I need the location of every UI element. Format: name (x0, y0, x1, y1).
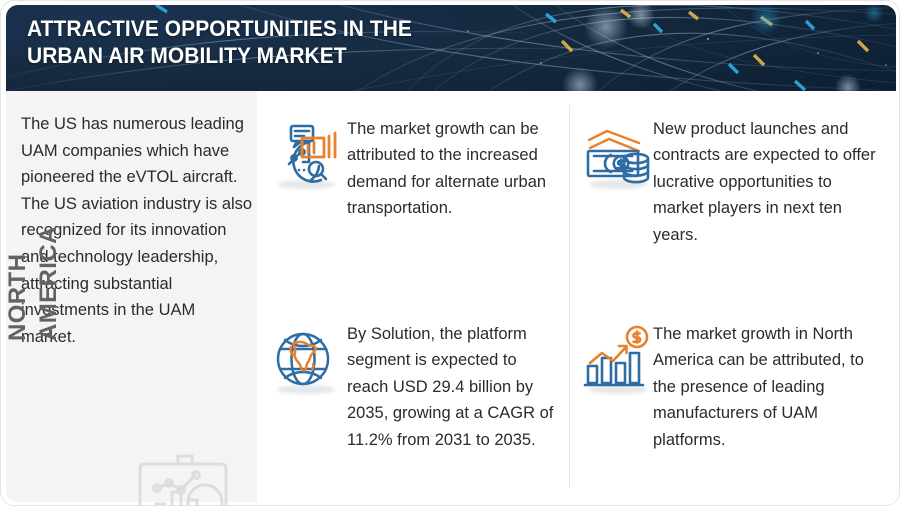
money-banknote-coins-icon (581, 118, 655, 192)
globe-world-icon (269, 323, 343, 397)
highlight-text-3: By Solution, the platform segment is exp… (347, 321, 559, 453)
page-title: Attractive Opportunities in the Urban Ai… (27, 15, 604, 69)
region-name-label: NORTH AMERICA (2, 151, 64, 341)
presentation-board-chart-magnifier-icon (126, 444, 246, 506)
header-banner: Attractive Opportunities in the Urban Ai… (6, 5, 896, 91)
column-divider (569, 105, 570, 488)
bar-chart-growth-dollar-icon (581, 323, 655, 397)
infographic-card: Attractive Opportunities in the Urban Ai… (0, 0, 900, 506)
pie-chart-percent-analysis-icon (269, 118, 343, 192)
highlight-text-1: The market growth can be attributed to t… (347, 116, 559, 222)
left-region-panel: The US has numerous leading UAM companie… (6, 91, 257, 502)
highlight-text-4: The market growth in North America can b… (653, 321, 881, 453)
highlight-text-2: New product launches and contracts are e… (653, 116, 881, 248)
